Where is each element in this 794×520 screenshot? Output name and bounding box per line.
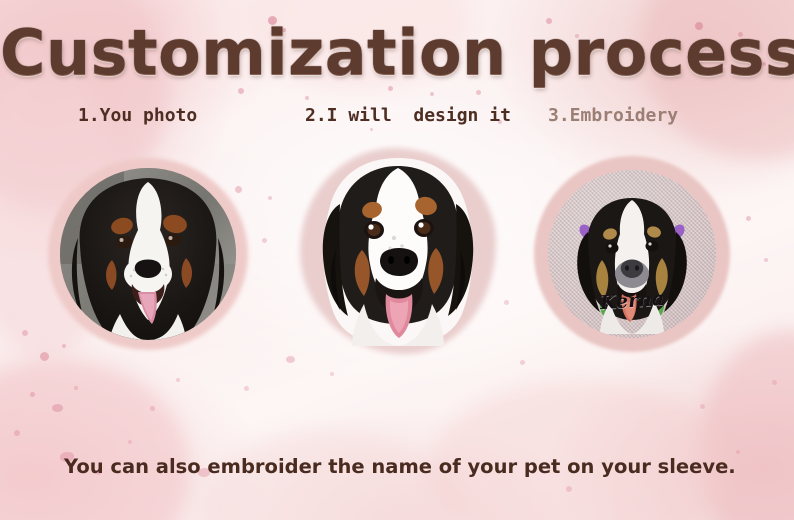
description-paragraph: You can also embroider the name of your … [64, 374, 764, 520]
splatter-dot [52, 404, 63, 412]
embroidery-patch-icon: Kerna [534, 156, 730, 352]
splatter-dot [746, 216, 751, 221]
splatter-dot [476, 90, 481, 95]
splatter-dot [14, 430, 20, 436]
bernese-photo-illustration [60, 168, 236, 340]
customer-photo-icon [48, 158, 248, 350]
splatter-dot [772, 380, 777, 385]
splatter-dot [30, 392, 35, 397]
splatter-dot [22, 330, 28, 336]
splatter-dot [370, 128, 373, 131]
customization-process-poster: Customization process 1.You photo 2.I wi… [0, 0, 794, 520]
vector-illustration-icon [300, 148, 496, 354]
splatter-dot [305, 96, 309, 100]
splatter-dot [262, 238, 267, 243]
splatter-dot [504, 300, 509, 305]
step-label-embroidery: 3.Embroidery [548, 105, 678, 126]
step-label-you-photo: 1.You photo [78, 105, 197, 126]
splatter-dot [764, 258, 768, 262]
patch-face: Kerna [548, 170, 716, 338]
splatter-dot [430, 92, 434, 96]
page-title: Customization process [0, 16, 794, 89]
photo-circle [60, 168, 236, 340]
splatter-dot [286, 356, 295, 363]
description-line-1: You can also embroider the name of your … [64, 448, 764, 485]
step-label-i-will-design-it: 2.I will design it [305, 105, 511, 126]
splatter-dot [40, 352, 49, 361]
splatter-dot [520, 360, 525, 365]
bernese-vector-illustration [306, 154, 490, 348]
vector-art [306, 154, 490, 348]
splatter-dot [268, 196, 272, 200]
